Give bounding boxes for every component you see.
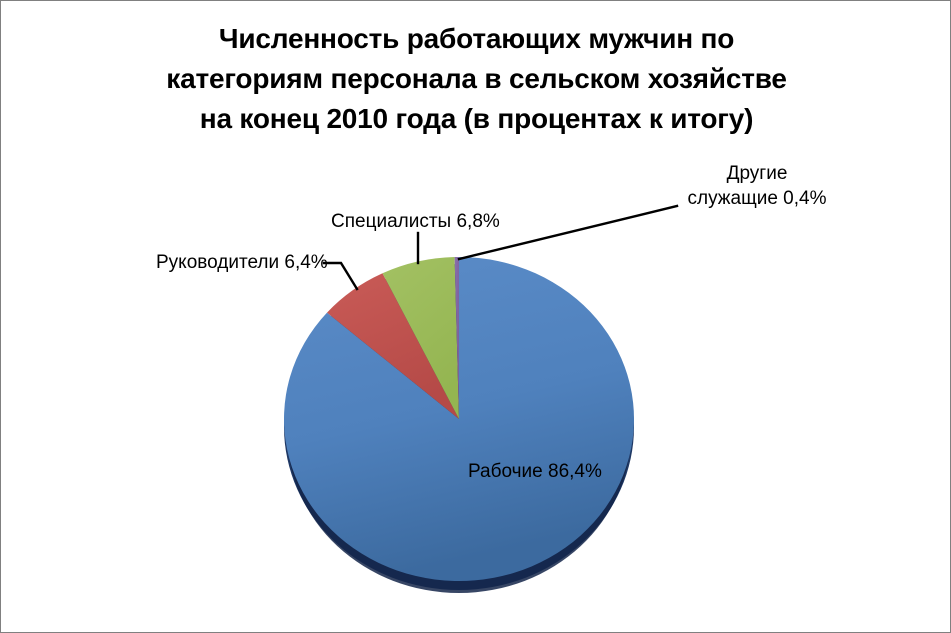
chart-canvas: Численность работающих мужчин по категор… — [0, 0, 951, 633]
data-label-drugie-sluzhashchie: Другие служащие 0,4% — [673, 161, 841, 211]
leader-line-rukovoditeli — [324, 263, 357, 289]
data-label-drugie-line-2: служащие 0,4% — [688, 188, 827, 209]
data-label-specialisty: Специалисты 6,8% — [331, 209, 500, 234]
pie-slices — [284, 257, 634, 581]
pie-plot-area — [1, 1, 951, 633]
data-label-rabochie: Рабочие 86,4% — [468, 459, 602, 484]
data-label-drugie-line-1: Другие — [727, 163, 788, 184]
data-label-rukovoditeli: Руководители 6,4% — [156, 250, 328, 275]
